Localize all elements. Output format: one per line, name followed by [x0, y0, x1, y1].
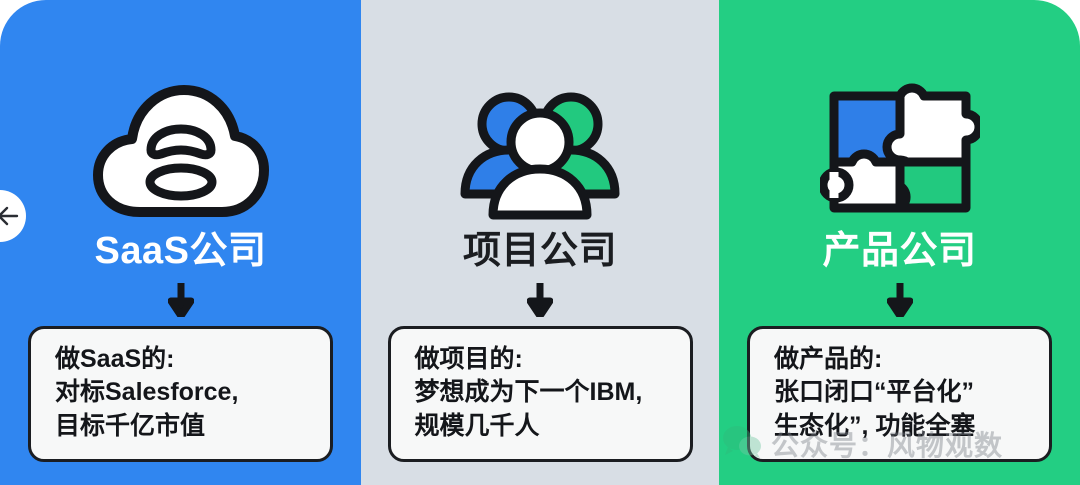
puzzle-icon	[820, 78, 980, 226]
callout-card-saas: 做SaaS的: 对标Salesforce, 目标千亿市值	[28, 326, 333, 463]
arrow-left-icon	[0, 206, 19, 226]
panel-saas[interactable]: SaaS公司 做SaaS的: 对标Salesforce, 目标千亿市值	[0, 0, 361, 485]
callout-line-3: 生态化”, 功能全塞	[774, 410, 1031, 444]
panel-title: SaaS公司	[95, 232, 267, 272]
panel-project[interactable]: 项目公司 做项目的: 梦想成为下一个IBM, 规模几千人	[361, 0, 719, 485]
callout-line-2: 张口闭口“平台化”	[774, 376, 1031, 410]
panel-title: 产品公司	[822, 232, 976, 272]
callout-card-product: 做产品的: 张口闭口“平台化” 生态化”, 功能全塞	[747, 326, 1052, 463]
callout-line-2: 梦想成为下一个IBM,	[415, 376, 672, 410]
callout-card-project: 做项目的: 梦想成为下一个IBM, 规模几千人	[388, 326, 693, 463]
callout-line-2: 对标Salesforce,	[55, 376, 312, 410]
arrow-down-icon	[168, 283, 194, 317]
callout-line-1: 做产品的:	[774, 343, 1031, 377]
panel-title: 项目公司	[463, 232, 617, 272]
callout-line-3: 规模几千人	[415, 410, 672, 444]
callout-line-1: 做项目的:	[415, 343, 672, 377]
cloud-icon	[91, 78, 271, 226]
callout-line-3: 目标千亿市值	[55, 410, 312, 444]
screenshot-root: SaaS公司 做SaaS的: 对标Salesforce, 目标千亿市值	[0, 0, 1080, 485]
arrow-down-icon	[887, 283, 913, 317]
panel-product[interactable]: 产品公司 做产品的: 张口闭口“平台化” 生态化”, 功能全塞	[719, 0, 1080, 485]
people-group-icon	[455, 78, 625, 226]
comparison-panels: SaaS公司 做SaaS的: 对标Salesforce, 目标千亿市值	[0, 0, 1080, 485]
arrow-down-icon	[527, 283, 553, 317]
callout-line-1: 做SaaS的:	[55, 343, 312, 377]
